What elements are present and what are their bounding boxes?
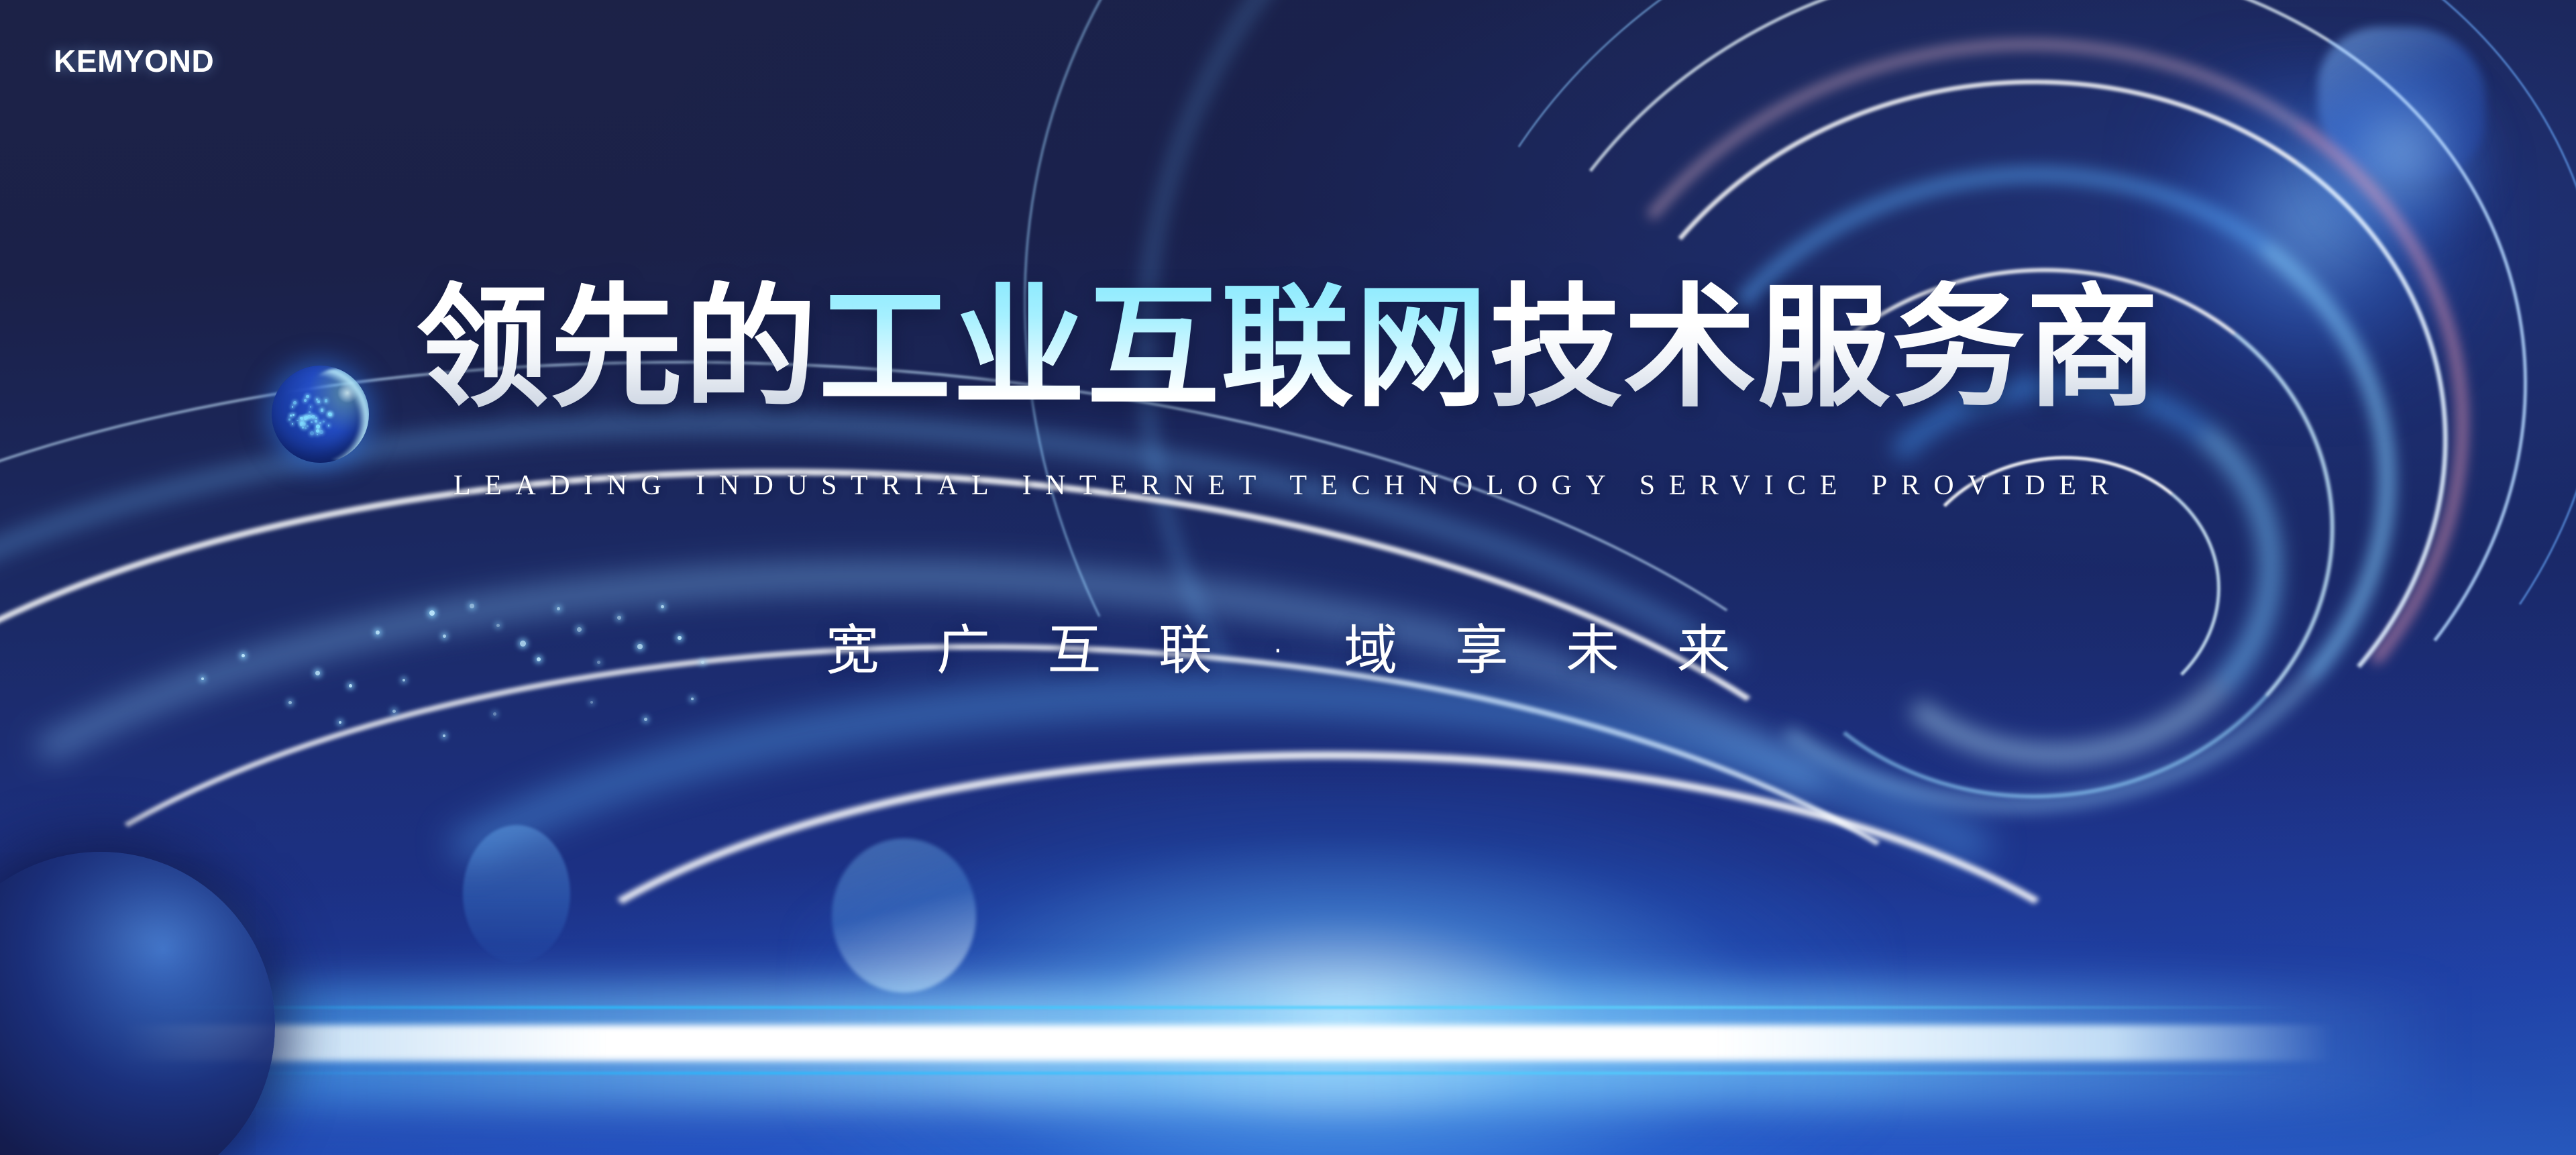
light-ribbon-7: [470, 751, 2187, 1155]
vortex-ring-1: [1325, 0, 2576, 1007]
brand-logo[interactable]: KEMYOND: [54, 46, 214, 76]
light-beam-thin-top: [154, 1006, 2301, 1009]
particle-dot: [392, 710, 396, 713]
particle-dot: [443, 734, 445, 737]
particle-dot: [288, 701, 292, 704]
sphere-dot: [319, 422, 321, 423]
cross-ribbon-2: [937, 0, 2576, 1155]
particle-dot: [493, 712, 496, 716]
translucent-circle-left: [463, 825, 570, 963]
light-beam-glow: [40, 986, 2455, 1107]
sphere-dot: [288, 419, 290, 421]
page-subtitle-english: LEADING INDUSTRIAL INTERNET TECHNOLOGY S…: [0, 470, 2576, 502]
light-ribbon-3: [0, 439, 1958, 1155]
particle-dot: [691, 698, 694, 700]
page-title: 领先的工业互联网技术服务商: [0, 280, 2576, 416]
cross-ribbon-1: [794, 0, 2576, 1155]
particle-dot: [590, 701, 593, 704]
dark-sphere-bottom-left: [0, 852, 275, 1155]
sphere-dot: [300, 417, 302, 419]
light-beam-thin-bottom: [201, 1072, 2281, 1075]
sphere-dot: [323, 421, 325, 423]
sphere-dot: [316, 425, 320, 429]
sphere-dot: [300, 422, 303, 425]
glow-highlight-top-right: [2301, 54, 2502, 255]
headline-part-tail: 技术服务商: [1489, 280, 2160, 416]
dark-sphere-highlight: [0, 872, 262, 1033]
sphere-dot: [307, 425, 309, 427]
vortex-ring-pink: [1505, 0, 2520, 898]
particle-dot: [644, 718, 647, 721]
sphere-dot: [316, 429, 319, 433]
page-tagline-chinese: 宽 广 互 联 · 域 享 未 来: [0, 607, 2576, 685]
sphere-dot: [311, 421, 313, 423]
sphere-dot: [292, 423, 294, 425]
vortex-ring-4: [1548, 31, 2491, 875]
horizontal-light-beam: [121, 1025, 2334, 1061]
sphere-dot: [297, 420, 299, 422]
headline-part-lead: 领先的: [416, 280, 818, 416]
vortex-ring-2: [1426, 0, 2576, 935]
light-ribbon-5: [0, 632, 2071, 1155]
faceted-chip-top-right: [2318, 27, 2485, 181]
headline-part-accent: 工业互联网: [818, 280, 1489, 416]
particle-dot: [339, 721, 341, 724]
translucent-circle-right: [832, 838, 976, 993]
sphere-dot: [310, 431, 314, 435]
banner-canvas: KEMYOND 领先的工业互联网技术服务商 LEADING INDUSTRIAL…: [0, 0, 2576, 1155]
central-light-glow: [792, 785, 1892, 1155]
sphere-dot: [303, 423, 305, 425]
light-ribbon-6: [282, 677, 2160, 1155]
sphere-dot: [319, 430, 323, 434]
